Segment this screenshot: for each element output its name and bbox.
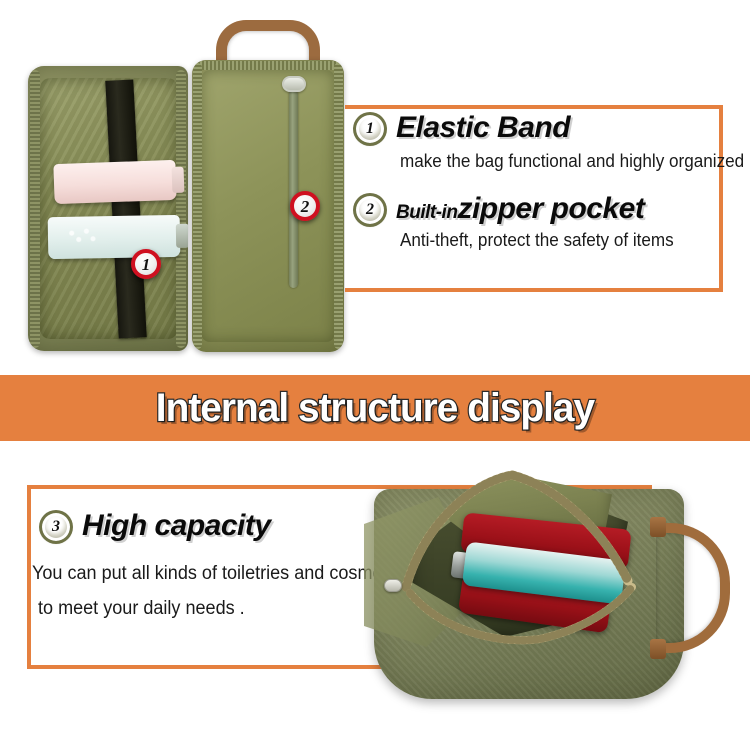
feature-heading-1: Elastic Band	[396, 111, 570, 145]
handle-attachment-top	[650, 517, 666, 537]
closed-bag-with-bottles-photo	[356, 461, 746, 741]
feature-heading-2-text: zipper pocket	[457, 192, 644, 225]
zipper-pull	[384, 579, 402, 592]
top-section: 1 2 1 Elastic Band make the bag function…	[0, 0, 750, 375]
section-banner: Internal structure display	[0, 375, 750, 441]
zipper-teeth-left	[30, 70, 40, 348]
feature-heading-1-text: Elastic Band	[396, 111, 570, 144]
photo-marker-2: 2	[290, 191, 320, 221]
zipper-teeth-right-b	[334, 63, 343, 349]
feature-description-3-line-1: You can put all kinds of toiletries and …	[32, 563, 410, 585]
feature-heading-3-text: High capacity	[82, 509, 271, 542]
handle-attachment-bottom	[650, 639, 666, 659]
bag-right-compartment	[192, 60, 344, 352]
built-in-zipper-pocket	[289, 90, 298, 288]
banner-title: Internal structure display	[156, 386, 594, 431]
feature-description-3-line-2: to meet your daily needs .	[38, 598, 245, 620]
product-infographic: 1 2 1 Elastic Band make the bag function…	[0, 0, 750, 750]
feature-heading-3: High capacity	[82, 509, 271, 543]
feature-description-2: Anti-theft, protect the safety of items	[400, 230, 674, 251]
feature-bullet-3: 3	[42, 513, 70, 541]
zipper-pull-icon	[282, 76, 306, 92]
bag-left-compartment	[28, 66, 188, 351]
bottom-section: 3 High capacity You can put all kinds of…	[0, 441, 750, 750]
zipper-teeth-top	[196, 61, 340, 70]
tube-floral-pattern	[58, 224, 104, 249]
leather-wrist-handle	[656, 523, 730, 653]
feature-heading-2: Built-inzipper pocket	[396, 192, 644, 226]
feature-heading-2-prefix: Built-in	[396, 202, 457, 223]
cosmetic-tube-pink	[53, 160, 176, 204]
cosmetic-tube-white	[48, 215, 181, 259]
open-toiletry-bag-photo: 1 2	[20, 18, 350, 358]
zipper-teeth-left-inner	[176, 70, 186, 348]
feature-bullet-1: 1	[356, 115, 384, 143]
photo-marker-1: 1	[131, 249, 161, 279]
feature-description-1: make the bag functional and highly organ…	[400, 151, 744, 172]
feature-bullet-2: 2	[356, 196, 384, 224]
zipper-teeth-right-a	[193, 63, 202, 349]
